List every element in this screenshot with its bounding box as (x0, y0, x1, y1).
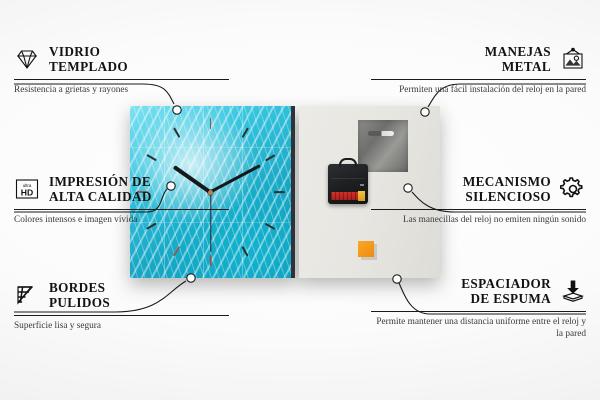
feature-header: ultra HD IMPRESIÓN DE ALTA CALIDAD (14, 174, 229, 205)
connector-marker-manejas (421, 108, 429, 116)
feature-title-line2: METAL (485, 59, 551, 74)
feature-description: Permite mantener una distancia uniforme … (371, 316, 586, 341)
feature-description: Colores intensos e imagen vívida (14, 214, 229, 226)
feature-title-line2: DE ESPUMA (461, 291, 551, 306)
feature-title-line2: ALTA CALIDAD (49, 189, 152, 204)
feature-mecanismo-silencioso: MECANISMO SILENCIOSO Las manecillas del … (371, 174, 586, 226)
feature-title-line1: MECANISMO (463, 174, 551, 189)
feature-description: Las manecillas del reloj no emiten ningú… (371, 214, 586, 226)
feature-title: IMPRESIÓN DE ALTA CALIDAD (49, 174, 152, 205)
feature-divider (371, 209, 586, 210)
feature-title-line1: MANEJAS (485, 44, 551, 59)
svg-text:HD: HD (21, 188, 33, 198)
diamond-icon (14, 47, 40, 71)
feature-description: Superficie lisa y segura (14, 320, 229, 332)
feature-description: Resistencia a grietas y rayones (14, 84, 229, 96)
foam-spacer-arrow-icon (560, 279, 586, 303)
feature-espaciador-de-espuma: ESPACIADOR DE ESPUMA Permite mantener un… (371, 276, 586, 340)
feature-title: VIDRIO TEMPLADO (49, 44, 128, 75)
feature-title: BORDES PULIDOS (49, 280, 110, 311)
feature-header: ESPACIADOR DE ESPUMA (371, 276, 586, 307)
feature-divider (14, 315, 229, 316)
feature-divider (14, 209, 229, 210)
gear-icon (560, 177, 586, 201)
feature-title-line1: IMPRESIÓN DE (49, 174, 152, 189)
feature-title: MANEJAS METAL (485, 44, 551, 75)
feature-header: MECANISMO SILENCIOSO (371, 174, 586, 205)
feature-title-line2: PULIDOS (49, 295, 110, 310)
picture-hanger-icon (560, 47, 586, 71)
feature-manejas-metal: MANEJAS METAL Permiten una fácil instala… (371, 44, 586, 96)
feature-title: MECANISMO SILENCIOSO (463, 174, 551, 205)
connector-marker-vidrio (173, 106, 181, 114)
feature-bordes-pulidos: BORDES PULIDOS Superficie lisa y segura (14, 280, 229, 332)
feature-divider (371, 311, 586, 312)
infographic-canvas: VIDRIO TEMPLADO Resistencia a grietas y … (0, 0, 600, 400)
feature-divider (371, 79, 586, 80)
feature-impresion-alta-calidad: ultra HD IMPRESIÓN DE ALTA CALIDAD Color… (14, 174, 229, 226)
feature-description: Permiten una fácil instalación del reloj… (371, 84, 586, 96)
feature-title-line1: ESPACIADOR (461, 276, 551, 291)
feature-title: ESPACIADOR DE ESPUMA (461, 276, 551, 307)
feature-header: BORDES PULIDOS (14, 280, 229, 311)
feature-title-line2: TEMPLADO (49, 59, 128, 74)
feature-header: VIDRIO TEMPLADO (14, 44, 229, 75)
feature-title-line1: VIDRIO (49, 44, 128, 59)
feature-title-line1: BORDES (49, 280, 110, 295)
polished-edges-icon (14, 283, 40, 307)
feature-divider (14, 79, 229, 80)
feature-vidrio-templado: VIDRIO TEMPLADO Resistencia a grietas y … (14, 44, 229, 96)
feature-header: MANEJAS METAL (371, 44, 586, 75)
feature-title-line2: SILENCIOSO (463, 189, 551, 204)
ultra-hd-icon: ultra HD (14, 177, 40, 201)
